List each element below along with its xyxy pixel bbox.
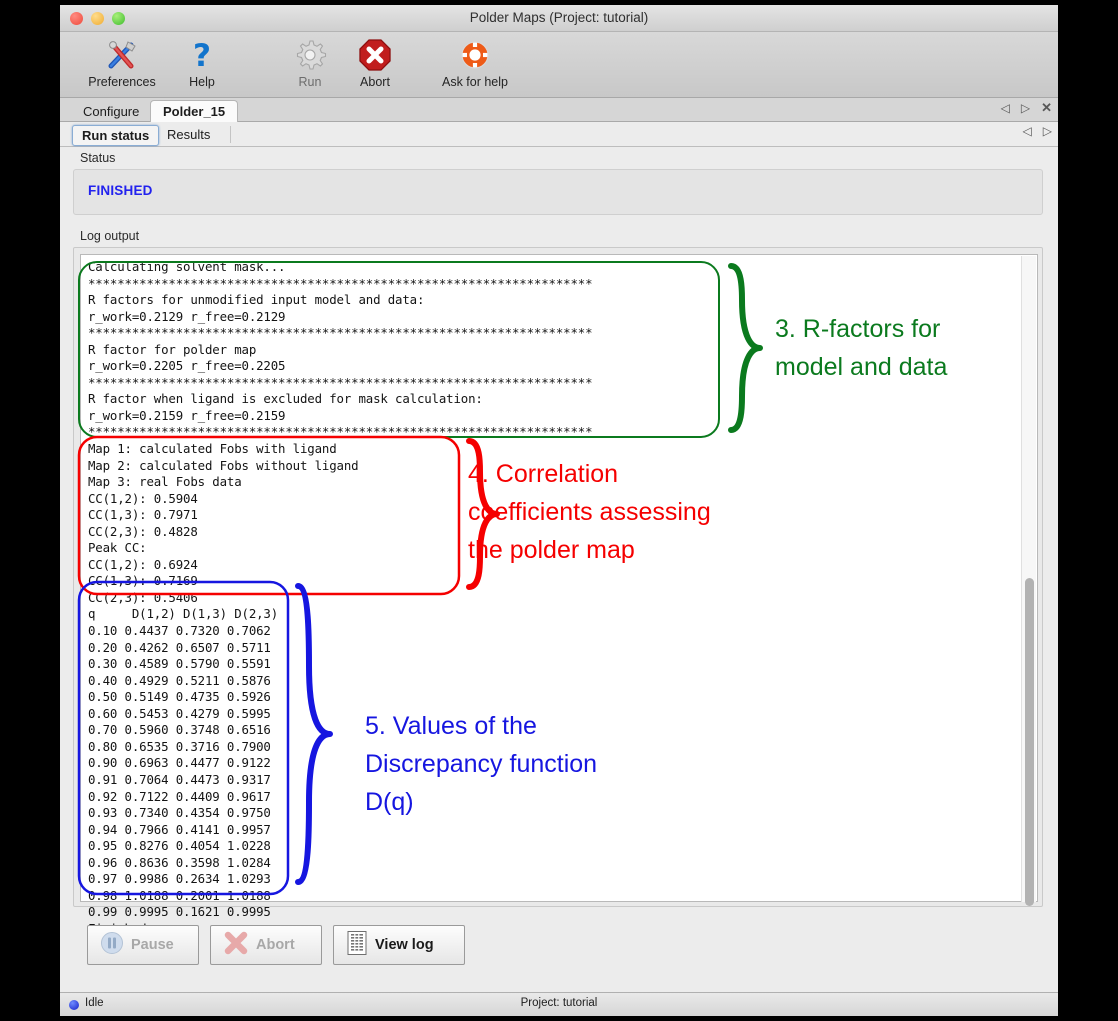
tab-run-status[interactable]: Run status — [72, 125, 159, 146]
log-scrollbar-track[interactable] — [1021, 256, 1036, 902]
status-badge: FINISHED — [88, 183, 153, 198]
document-icon — [346, 930, 368, 961]
x-red-icon — [223, 931, 249, 960]
pause-icon — [100, 931, 124, 960]
annotation-label-discrepancy: 5. Values of the Discrepancy function D(… — [365, 707, 597, 821]
tab-results[interactable]: Results — [158, 125, 219, 144]
view-log-button[interactable]: View log — [333, 925, 465, 965]
annotation-label-r-factors: 3. R-factors for model and data — [775, 310, 947, 386]
status-bar: Idle Project: tutorial — [60, 992, 1058, 1016]
prev-tab-icon[interactable]: ◁ — [1001, 102, 1010, 114]
primary-tab-strip: Configure Polder_15 ◁ ▷ ✕ — [60, 98, 1058, 122]
view-log-button-label: View log — [375, 937, 434, 953]
next-tab-icon[interactable]: ▷ — [1021, 102, 1030, 114]
close-tab-icon[interactable]: ✕ — [1041, 101, 1052, 114]
primary-tab-nav: ◁ ▷ ✕ — [1001, 101, 1052, 114]
toolbar-label: Help — [160, 75, 244, 89]
lifebuoy-icon — [433, 36, 517, 74]
toolbar-button-help[interactable]: ? Help — [160, 36, 244, 89]
screenshot-root: Polder Maps (Project: tutorial) — [0, 0, 1118, 1021]
log-output-label: Log output — [80, 229, 139, 243]
status-box: FINISHED — [73, 169, 1043, 215]
tab-polder-15[interactable]: Polder_15 — [150, 100, 238, 122]
pause-button[interactable]: Pause — [87, 925, 199, 965]
toolbar-label: Abort — [333, 75, 417, 89]
tab-configure[interactable]: Configure — [70, 100, 152, 122]
title-bar: Polder Maps (Project: tutorial) — [60, 5, 1058, 32]
pause-button-label: Pause — [131, 937, 174, 953]
toolbar-button-ask-for-help[interactable]: Ask for help — [433, 36, 517, 89]
toolbar-label: Preferences — [80, 75, 164, 89]
next-tab-icon[interactable]: ▷ — [1043, 125, 1052, 137]
toolbar-button-preferences[interactable]: Preferences — [80, 36, 164, 89]
prev-tab-icon[interactable]: ◁ — [1023, 125, 1032, 137]
svg-text:?: ? — [193, 38, 211, 72]
question-icon: ? — [160, 36, 244, 74]
secondary-tab-nav: ◁ ▷ — [1023, 125, 1052, 137]
status-bar-project: Project: tutorial — [60, 997, 1058, 1009]
annotation-label-correlation: 4. Correlation coefficients assessing th… — [468, 455, 711, 569]
secondary-tab-strip: Run status Results ◁ ▷ — [60, 122, 1058, 147]
status-section-label: Status — [80, 151, 115, 165]
window-title: Polder Maps (Project: tutorial) — [60, 10, 1058, 25]
abort-button-label: Abort — [256, 937, 295, 953]
toolbar-button-abort[interactable]: Abort — [333, 36, 417, 89]
tools-icon — [80, 36, 164, 74]
main-toolbar: Preferences ? Help — [60, 32, 1058, 98]
log-scrollbar-thumb[interactable] — [1025, 578, 1034, 906]
log-output-text: Calculating solvent mask... ************… — [88, 259, 592, 937]
abort-button[interactable]: Abort — [210, 925, 322, 965]
toolbar-label: Ask for help — [433, 75, 517, 89]
stop-x-icon — [333, 36, 417, 74]
tab-separator — [230, 126, 231, 143]
